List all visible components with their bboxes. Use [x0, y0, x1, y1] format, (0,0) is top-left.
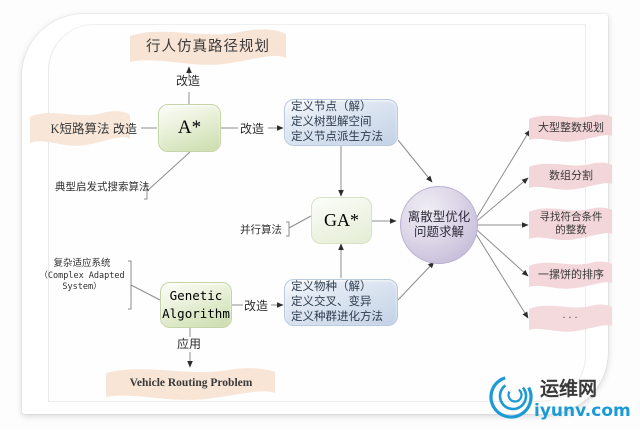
astar-def-line-1: 定义节点（解） — [291, 100, 383, 115]
genetic-algorithm-line-1: Genetic — [162, 287, 230, 305]
edge-label-ga-to-vrp: 应用 — [177, 335, 201, 352]
watermark-cn-text: 运维网 — [540, 377, 597, 400]
edge-label-astar-to-definitions: 改造 — [240, 120, 264, 137]
edge-label-astar-to-kshort: 改造 — [113, 120, 137, 137]
wire-ga-note — [131, 285, 160, 300]
astar-def-line-3: 定义节点派生方法 — [291, 130, 383, 145]
watermark-graphic: 运维网 iyunv.com — [484, 367, 632, 425]
bracket-gastar-note — [286, 222, 289, 236]
annotation-gastar-note: 并行算法 — [240, 222, 282, 237]
ga-note-line-2: （Complex Adapted — [34, 271, 130, 282]
core-line-1: 离散型优化 — [408, 210, 471, 225]
node-astar[interactable]: A* — [158, 104, 221, 152]
node-app-pancake-sorting-label: 一摞饼的排序 — [528, 259, 614, 291]
annotation-ga-note: 复杂适应系统 （Complex Adapted System） — [34, 259, 130, 292]
swirl-circle-icon — [484, 370, 538, 424]
wire-defbox-core — [398, 140, 432, 182]
wire-core-app1 — [477, 130, 530, 217]
astar-def-line-2: 定义树型解空间 — [291, 115, 383, 130]
annotation-astar-note: 典型启发式搜索算法 — [55, 179, 150, 194]
ga-note-line-3: System） — [34, 282, 130, 293]
node-ga-star[interactable]: GA* — [311, 197, 372, 244]
node-genetic-algorithm[interactable]: Genetic Algorithm — [160, 282, 232, 328]
app3-line-2: 的整数 — [540, 224, 603, 237]
node-core-discrete-optimization[interactable]: 离散型优化 问题求解 — [400, 186, 478, 264]
wire-astar-note — [147, 152, 190, 191]
node-app-find-integers-label: 寻找符合条件 的整数 — [528, 204, 614, 244]
node-vehicle-routing-problem-label: Vehicle Routing Problem — [104, 365, 278, 403]
edge-label-astar-to-pedestrian: 改造 — [176, 72, 200, 89]
core-line-2: 问题求解 — [408, 225, 471, 240]
node-app-more-label: ··· — [528, 302, 614, 334]
ga-note-line-1: 复杂适应系统 — [34, 259, 130, 271]
wire-core-app5 — [476, 234, 528, 318]
wire-core-app4 — [477, 230, 528, 276]
watermark-url-text: iyunv.com — [534, 401, 631, 421]
ga-def-line-1: 定义物种（解） — [291, 280, 383, 295]
wire-gadef-core — [398, 262, 434, 300]
edge-label-ga-to-definitions: 改造 — [244, 297, 268, 314]
ga-def-line-3: 定义种群进化方法 — [291, 310, 383, 325]
wire-gastar-note — [289, 216, 311, 228]
watermark: 运维网 iyunv.com — [484, 367, 632, 425]
genetic-algorithm-line-2: Algorithm — [162, 305, 230, 323]
node-app-large-integer-programming-label: 大型整数规划 — [528, 112, 614, 144]
wire-core-app2 — [477, 178, 528, 221]
node-pedestrian-planning-label: 行人仿真路径规划 — [128, 26, 288, 68]
app3-line-1: 寻找符合条件 — [540, 211, 603, 224]
ga-def-line-2: 定义交叉、变异 — [291, 295, 383, 310]
node-astar-definitions[interactable]: 定义节点（解） 定义树型解空间 定义节点派生方法 — [284, 99, 398, 146]
node-app-array-partition-label: 数组分割 — [528, 160, 614, 192]
node-ga-definitions[interactable]: 定义物种（解） 定义交叉、变异 定义种群进化方法 — [284, 279, 398, 326]
diagram-canvas: 行人仿真路径规划 K短路算法 Vehicle Routing Problem A… — [0, 0, 640, 429]
